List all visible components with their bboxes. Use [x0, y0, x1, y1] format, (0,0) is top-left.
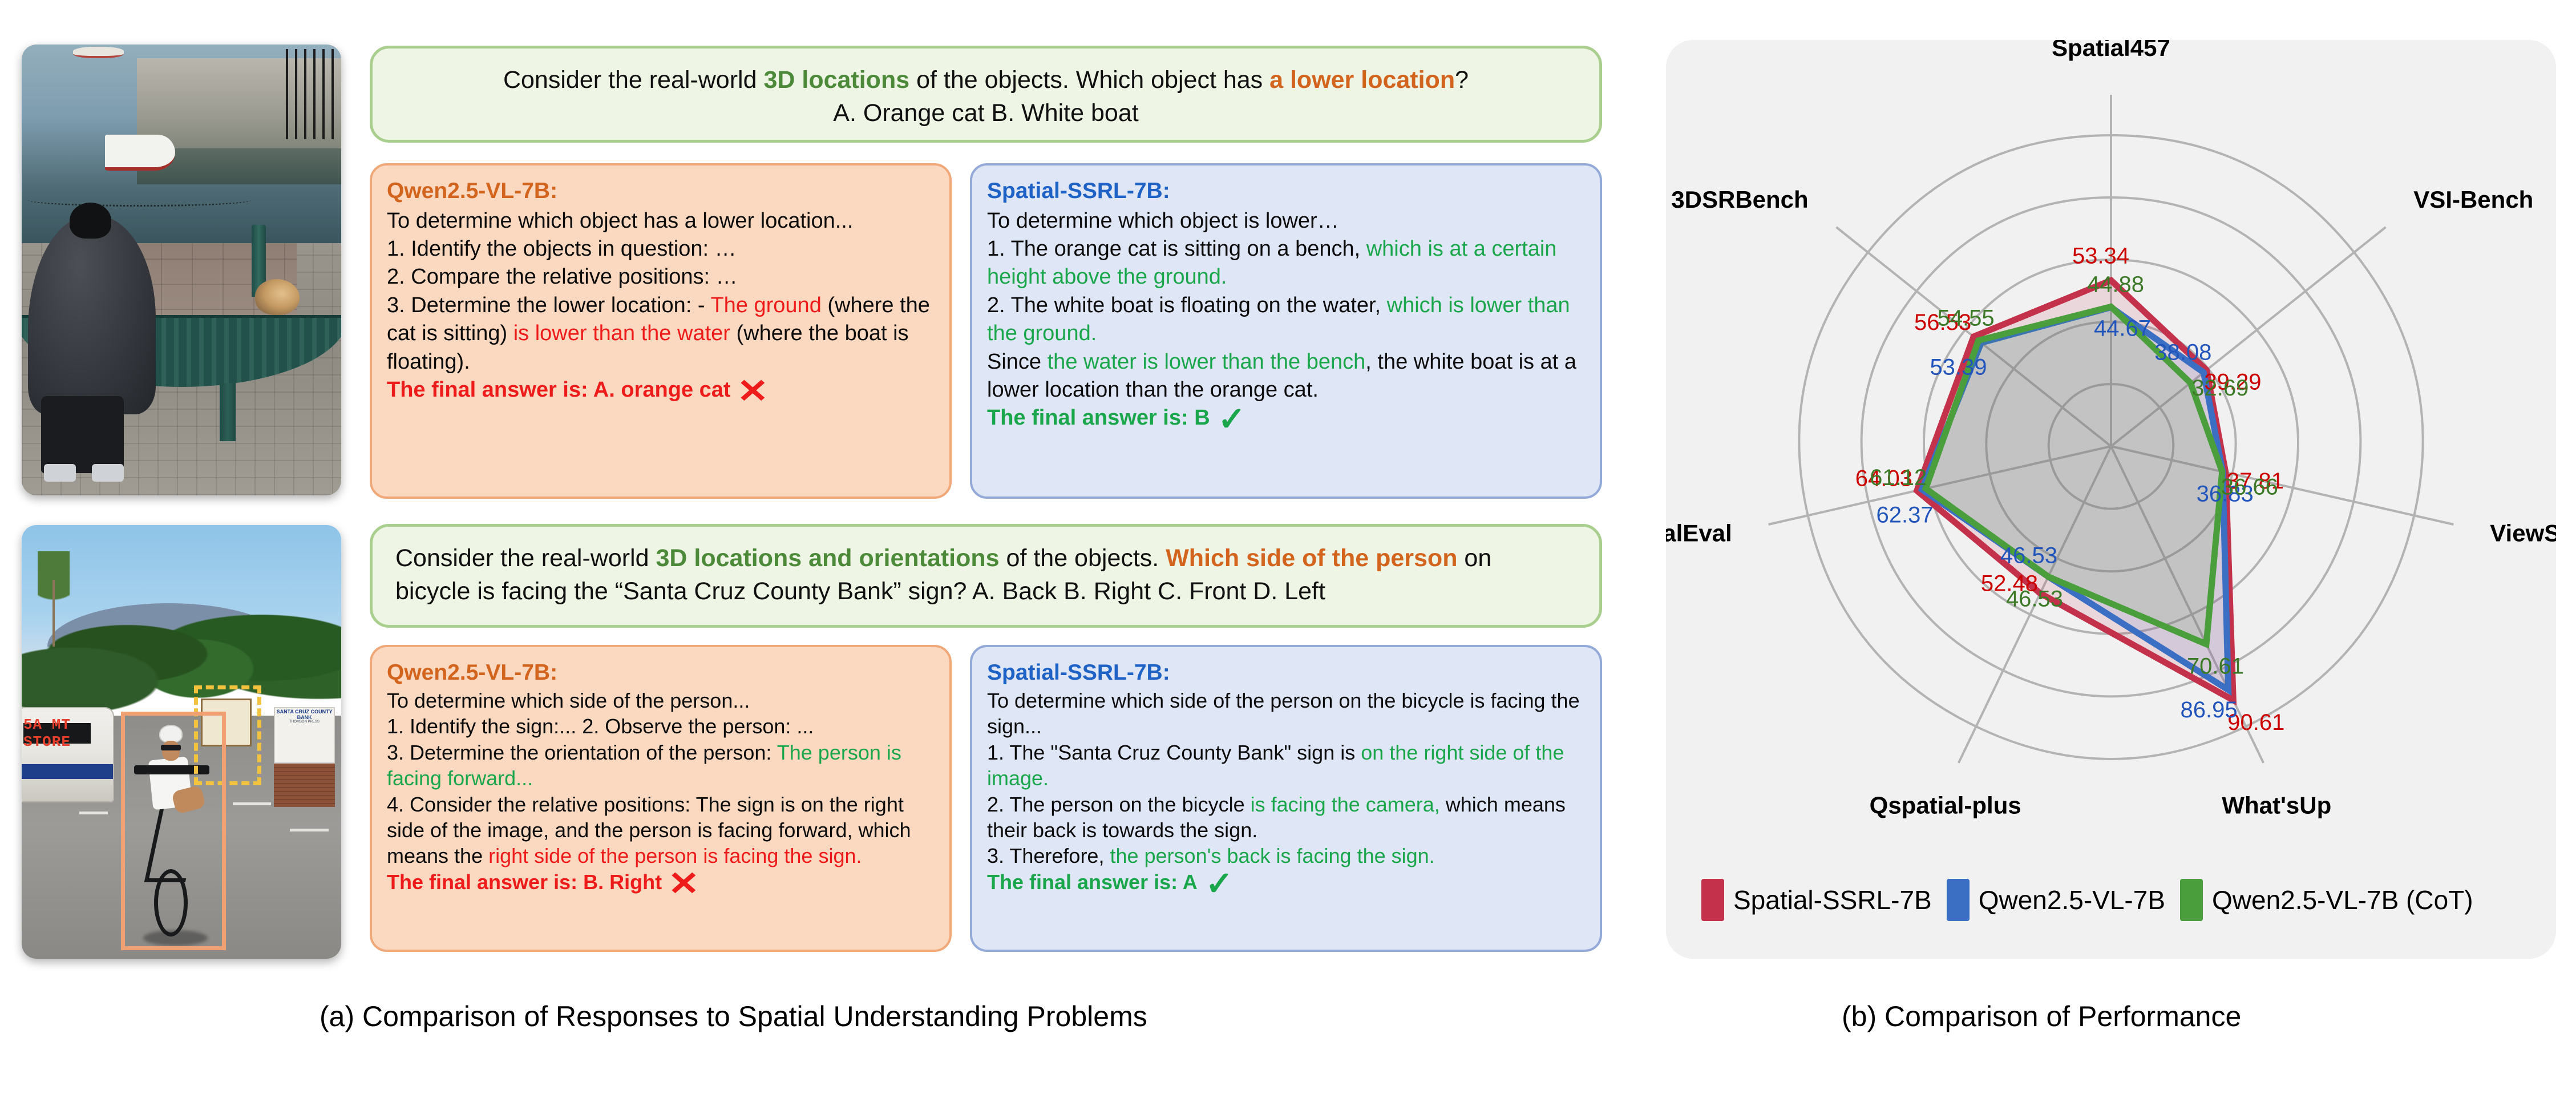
cross-icon: ✕ [668, 873, 699, 896]
qwen-body-2-line3: 3. Determine the orientation of the pers… [387, 740, 935, 792]
question-2-green-highlight: 3D locations and orientations [656, 544, 999, 572]
photo2-lane-mark [233, 802, 271, 805]
photo1-far-boat [73, 47, 124, 58]
legend-label-qwen25-vl-7b: Qwen2.5-VL-7B [1979, 885, 2165, 915]
radar-value-label: 70.61 [2187, 654, 2244, 679]
radar-value-label: 54.55 [1938, 306, 1995, 331]
ssrl-body-2-line4: 3. Therefore, the person's back is facin… [987, 843, 1585, 869]
ssrl-body-2-line1: To determine which side of the person on… [987, 688, 1585, 740]
ssrl-response-card-1: Spatial-SSRL-7B: To determine which obje… [970, 163, 1602, 499]
legend-label-spatial-ssrl-7b: Spatial-SSRL-7B [1733, 885, 1932, 915]
radar-axis-label-spatial457: Spatial457 [2052, 40, 2170, 61]
radar-value-label: 86.95 [2181, 697, 2238, 722]
legend-swatch-qwen25-vl-7b [1947, 879, 1970, 921]
question-2-banner: Consider the real-world 3D locations and… [370, 524, 1602, 628]
ssrl-body-2-line3: 2. The person on the bicycle is facing t… [987, 792, 1585, 843]
question-1-orange-highlight: a lower location [1269, 66, 1455, 94]
photo2-bank-sign: SANTA CRUZ COUNTY BANK THOMSON PRESS [274, 707, 334, 764]
panel-comparison-of-responses: Consider the real-world 3D locations of … [0, 0, 1629, 1094]
photo1-shoe-right [92, 464, 124, 482]
qwen-model-label-2: Qwen2.5-VL-7B: [387, 659, 935, 687]
qwen-body-1-line1: To determine which object has a lower lo… [387, 207, 935, 235]
qwen-final-answer-2: The final answer is: B. Right✕ [387, 869, 935, 896]
photo1-person-hat [70, 203, 111, 239]
legend-label-qwen25-vl-7b-cot: Qwen2.5-VL-7B (CoT) [2212, 885, 2473, 915]
qwen-body-2-line2: 1. Identify the sign:... 2. Observe the … [387, 713, 935, 739]
radar-value-label: 53.39 [1930, 355, 1987, 380]
street-cyclist-bank-sign-photo: SANTA CRUZ COUNTY BANK THOMSON PRESS 5A … [22, 525, 341, 959]
ssrl-green-span-2b: is facing the camera, [1251, 793, 1440, 816]
question-2-orange-highlight: Which side of the person [1166, 544, 1457, 572]
radar-axis-label-qspatial-plus: Qspatial-plus [1870, 792, 2021, 819]
photo2-bus-stripe [22, 764, 113, 779]
radar-value-label: 46.53 [2000, 543, 2057, 568]
legend-item-spatial-ssrl-7b[interactable]: Spatial-SSRL-7B [1701, 879, 1932, 921]
bbox-person-annotation [121, 712, 227, 950]
ssrl-model-label-1: Spatial-SSRL-7B: [987, 177, 1585, 206]
legend-swatch-qwen25-vl-7b-cot [2180, 879, 2203, 921]
photo2-trees [22, 577, 341, 724]
radar-value-label: 32.69 [2191, 376, 2249, 401]
photo2-palm-tree [38, 551, 70, 647]
legend-swatch-spatial-ssrl-7b [1701, 879, 1724, 921]
radar-value-label: 44.88 [2087, 272, 2144, 297]
qwen-red-span-2: right side of the person is facing the s… [488, 844, 862, 867]
qwen-red-span-1b: is lower than the water [513, 321, 730, 345]
ssrl-final-answer-1: The final answer is: B✓ [987, 404, 1585, 432]
photo2-lane-mark [290, 829, 328, 831]
radar-axis-label-spatialeval: SpatialEval [1666, 520, 1732, 547]
radar-value-label: 44.67 [2094, 316, 2151, 341]
question-1-green-highlight: 3D locations [763, 66, 909, 94]
qwen-body-1-line4: 3. Determine the lower location: - The g… [387, 292, 935, 376]
question-1-options: A. Orange cat B. White boat [395, 96, 1576, 130]
chart-legend: Spatial-SSRL-7B Qwen2.5-VL-7B Qwen2.5-VL… [1701, 879, 2529, 921]
legend-item-qwen25-vl-7b[interactable]: Qwen2.5-VL-7B [1947, 879, 2165, 921]
question-1-line1: Consider the real-world 3D locations of … [395, 63, 1576, 96]
legend-item-qwen25-vl-7b-cot[interactable]: Qwen2.5-VL-7B (CoT) [2180, 879, 2473, 921]
photo2-bus: 5A MT STORE [22, 707, 114, 802]
ssrl-green-span-2c: the person's back is facing the sign. [1110, 844, 1434, 867]
ssrl-body-1-line2: 1. The orange cat is sitting on a bench,… [987, 235, 1585, 292]
qwen-model-label-1: Qwen2.5-VL-7B: [387, 177, 935, 206]
photo2-bus-destination-sign: 5A MT STORE [23, 723, 91, 744]
check-icon: ✓ [1218, 408, 1246, 431]
photo1-white-boat [105, 135, 175, 171]
subfigure-caption-a: (a) Comparison of Responses to Spatial U… [320, 1000, 1147, 1033]
cross-icon: ✕ [737, 380, 769, 403]
photo1-bench-leg [220, 383, 236, 442]
ssrl-model-label-2: Spatial-SSRL-7B: [987, 659, 1585, 687]
radar-value-label: 53.34 [2072, 243, 2129, 268]
ssrl-green-span-1c: the water is lower than the bench [1048, 350, 1366, 374]
photo1-person-legs [41, 396, 124, 473]
radar-value-label: 61.12 [1870, 465, 1927, 490]
ssrl-body-1-line3: 2. The white boat is floating on the wat… [987, 292, 1585, 348]
radar-value-label: 38.08 [2154, 340, 2211, 365]
photo2-brick-base [274, 764, 334, 807]
ssrl-final-answer-2: The final answer is: A✓ [987, 869, 1585, 896]
photo1-seated-person [28, 216, 156, 414]
qwen-response-card-1: Qwen2.5-VL-7B: To determine which object… [370, 163, 952, 499]
question-2-options: bicycle is facing the “Santa Cruz County… [395, 575, 1576, 608]
question-2-line1: Consider the real-world 3D locations and… [395, 542, 1576, 575]
radar-chart: Spatial457VSI-BenchViewSpatialWhat'sUpQs… [1666, 40, 2556, 879]
qwen-body-2-line1: To determine which side of the person... [387, 688, 935, 713]
ssrl-body-1-line4: Since the water is lower than the bench,… [987, 348, 1585, 405]
qwen-red-span-1a: The ground [710, 293, 821, 317]
qwen-body-1-line3: 2. Compare the relative positions: … [387, 263, 935, 291]
ssrl-body-2-line2: 1. The "Santa Cruz County Bank" sign is … [987, 740, 1585, 792]
photo2-lane-mark [79, 812, 108, 814]
photo2-bank-sign-text: SANTA CRUZ COUNTY BANK [275, 708, 333, 720]
radar-axis-label-what-sup: What'sUp [2222, 792, 2331, 819]
photo1-shoe-left [44, 464, 76, 482]
photo1-railing [284, 49, 335, 139]
radar-value-label: 36.66 [2221, 475, 2278, 500]
photo1-orange-cat [255, 279, 300, 315]
photo2-bank-sign-subtext: THOMSON PRESS [275, 720, 333, 724]
ssrl-body-1-line1: To determine which object is lower… [987, 207, 1585, 235]
ssrl-response-card-2: Spatial-SSRL-7B: To determine which side… [970, 645, 1602, 952]
radar-axis-label-viewspatial: ViewSpatial [2490, 520, 2556, 547]
radar-axis-label-vsi-bench: VSI-Bench [2413, 186, 2533, 213]
question-1-banner: Consider the real-world 3D locations of … [370, 46, 1602, 143]
harbour-cat-boat-photo [22, 45, 341, 495]
qwen-final-answer-1: The final answer is: A. orange cat✕ [387, 376, 935, 404]
panel-comparison-of-performance: Spatial457VSI-BenchViewSpatialWhat'sUpQs… [1666, 40, 2556, 959]
radar-axis-label-3dsrbench: 3DSRBench [1671, 186, 1808, 213]
qwen-body-1-line2: 1. Identify the objects in question: … [387, 235, 935, 263]
check-icon: ✓ [1206, 873, 1234, 896]
qwen-body-2-line4: 4. Consider the relative positions: The … [387, 792, 935, 869]
subfigure-caption-b: (b) Comparison of Performance [1842, 1000, 2241, 1033]
radar-value-label: 62.37 [1877, 503, 1934, 528]
radar-value-label: 46.53 [2006, 587, 2063, 612]
qwen-response-card-2: Qwen2.5-VL-7B: To determine which side o… [370, 645, 952, 952]
